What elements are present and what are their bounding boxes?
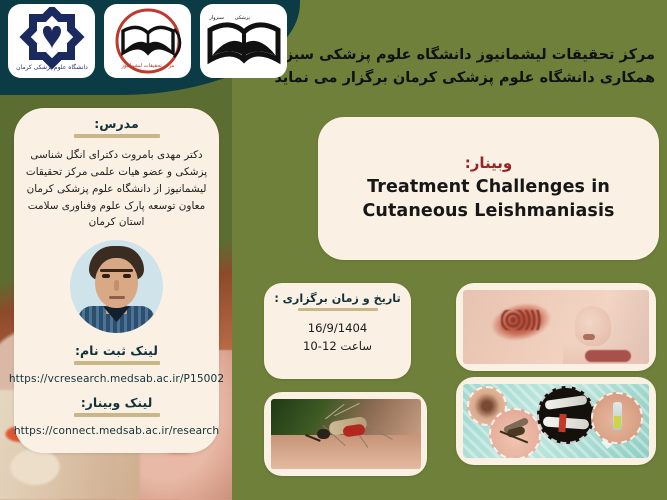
event-time: ساعت 12-10: [303, 338, 372, 356]
webinar-link-underline: [74, 413, 160, 417]
collage-photo: [463, 384, 649, 458]
face-lesion-crust: [501, 310, 541, 330]
face-lesion-photo-card: [456, 283, 656, 371]
svg-text:دانشگاه علوم پزشکی کرمان: دانشگاه علوم پزشکی کرمان: [16, 63, 88, 71]
svg-text:سبزوار: سبزوار: [208, 15, 224, 21]
speaker-bio-line-1: دکتر مهدی بامروت دکترای انگل شناسی: [22, 147, 212, 164]
header-title: مرکز تحقیقات لیشمانیوز دانشگاه علوم پزشک…: [277, 44, 655, 91]
date-time-values: 16/9/1404 ساعت 12-10: [303, 320, 372, 356]
collage-photo-card: [456, 377, 656, 465]
open-book-logo: سبزوارپزشکی: [200, 4, 287, 78]
collage-medication-tube: [545, 395, 588, 410]
collage-vial-fluid: [614, 416, 621, 428]
date-time-card: تاریخ و زمان برگزاری : 16/9/1404 ساعت 12…: [264, 283, 411, 379]
speaker-card: مدرس: دکتر مهدی بامروت دکترای انگل شناسی…: [14, 108, 219, 453]
date-time-underline: [298, 308, 378, 311]
registration-label: لینک ثبت نام:: [74, 343, 160, 358]
registration-underline: [74, 361, 160, 365]
speaker-heading: مدرس:: [74, 116, 160, 138]
speaker-bio-line-4: معاون توسعه پارک علوم وفناوری سلامت: [22, 198, 212, 215]
registration-heading: لینک ثبت نام:: [74, 343, 160, 365]
header-title-line1: مرکز تحقیقات لیشمانیوز دانشگاه علوم پزشک…: [277, 44, 655, 67]
kerman-university-medical-sciences-logo: دانشگاه علوم پزشکی کرمان: [8, 4, 95, 78]
avatar-eye-left: [102, 274, 110, 278]
face-nose: [575, 306, 611, 346]
speaker-bio-line-3: لیشمانیوز از دانشگاه علوم پزشکی کرمان: [22, 181, 212, 198]
avatar-brows: [100, 269, 133, 272]
event-date: 16/9/1404: [303, 320, 372, 338]
face-lesion-photo: [463, 290, 649, 364]
registration-url[interactable]: https://vcresearch.medsab.ac.ir/P15002: [9, 373, 224, 385]
webinar-poster: سبزوارپزشکی مرکز تحقیقات لیشمانیوز: [0, 0, 667, 500]
sandfly-photo: [271, 399, 421, 469]
webinar-kicker: وبینار:: [465, 154, 512, 172]
webinar-title-line2: Cutaneous Leishmaniasis: [362, 199, 614, 223]
svg-text:پزشکی: پزشکی: [234, 15, 250, 21]
webinar-link-label: لینک وبینار:: [74, 395, 160, 410]
speaker-avatar: [70, 240, 163, 333]
header-title-line2: همکاری دانشگاه علوم پزشکی کرمان برگزار م…: [277, 67, 655, 90]
svg-text:مرکز تحقیقات لیشمانیوز: مرکز تحقیقات لیشمانیوز: [120, 63, 174, 69]
avatar-nose: [114, 280, 119, 291]
collage-vial-circle: [591, 392, 643, 444]
speaker-heading-label: مدرس:: [74, 116, 160, 131]
logo-row: سبزوارپزشکی مرکز تحقیقات لیشمانیوز: [8, 4, 287, 78]
speaker-bio: دکتر مهدی بامروت دکترای انگل شناسی پزشکی…: [22, 147, 212, 231]
webinar-link-heading: لینک وبینار:: [74, 395, 160, 417]
sandfly-photo-card: [264, 392, 427, 476]
leishmaniasis-research-center-logo: مرکز تحقیقات لیشمانیوز: [104, 4, 191, 78]
speaker-bio-line-2: پزشکی و عضو هیات علمی مرکز تحقیقات: [22, 164, 212, 181]
avatar-mouth: [109, 296, 125, 299]
sandfly-skin: [271, 435, 421, 469]
sandfly-head: [317, 429, 330, 439]
webinar-url[interactable]: https://connect.medsab.ac.ir/research: [14, 425, 219, 437]
date-time-label: تاریخ و زمان برگزاری :: [274, 292, 400, 305]
collage-medication-band: [558, 414, 566, 432]
webinar-title-card: وبینار: Treatment Challenges in Cutaneou…: [318, 117, 659, 260]
collage-sandfly-circle: [489, 408, 541, 458]
face-lip: [585, 350, 631, 362]
collage-medication-circle: [537, 386, 595, 444]
webinar-title: Treatment Challenges in Cutaneous Leishm…: [362, 175, 614, 223]
speaker-bio-line-5: استان کرمان: [22, 214, 212, 231]
webinar-title-line1: Treatment Challenges in: [362, 175, 614, 199]
speaker-heading-underline: [74, 134, 160, 138]
avatar-eye-right: [123, 274, 131, 278]
face-nostril: [583, 334, 595, 340]
